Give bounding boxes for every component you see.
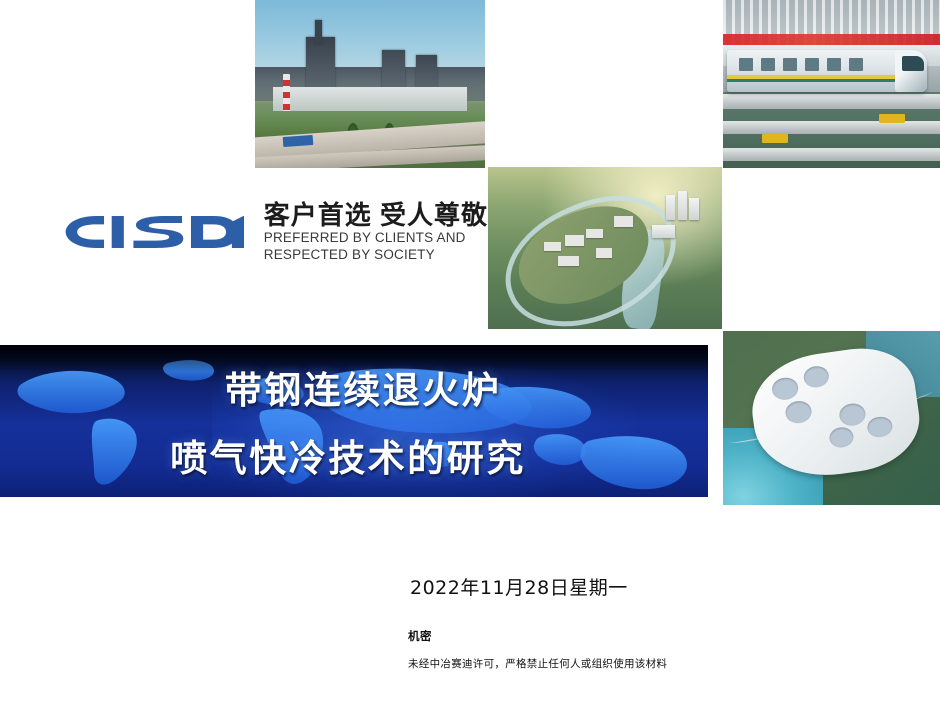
blast-furnace-1 xyxy=(306,37,336,91)
campus-building xyxy=(586,229,602,239)
guideway-beam xyxy=(723,121,940,134)
title-text-group: 带钢连续退火炉 喷气快冷技术的研究 xyxy=(0,345,708,497)
monorail-depot-photo xyxy=(723,0,940,168)
campus-building xyxy=(558,256,579,266)
confidential-note: 未经中冶赛迪许可，严格禁止任何人或组织使用该材料 xyxy=(408,656,667,671)
slogan-english-line2: RESPECTED BY SOCIETY xyxy=(264,248,488,262)
mid-rise-block xyxy=(652,225,675,238)
title-line-1: 带钢连续退火炉 xyxy=(225,360,502,414)
coastal-building-photo xyxy=(723,331,940,505)
train-window xyxy=(805,58,819,71)
train-window xyxy=(849,58,863,71)
cisdi-logo-icon xyxy=(58,201,250,263)
high-rise-tower xyxy=(678,191,687,220)
steel-plant-photo xyxy=(255,0,485,168)
high-rise-tower xyxy=(666,195,675,221)
high-rise-tower xyxy=(689,198,698,221)
date-text: 2022年11月28日星期一 xyxy=(410,573,628,600)
roof-dome xyxy=(784,399,813,424)
confidential-block: 机密 未经中冶赛迪许可，严格禁止任何人或组织使用该材料 xyxy=(408,628,667,671)
roof-dome xyxy=(803,365,830,389)
brand-slogan: 客户首选 受人尊敬 PREFERRED BY CLIENTS AND RESPE… xyxy=(264,202,488,261)
red-banner xyxy=(723,34,940,46)
campus-building xyxy=(565,235,584,246)
roof-dome xyxy=(838,401,867,426)
monorail-train xyxy=(727,50,927,92)
ring-canal xyxy=(488,173,696,329)
campus-building xyxy=(614,216,633,227)
campus-building xyxy=(544,242,560,252)
roof-dome xyxy=(771,376,800,401)
train-window xyxy=(761,58,775,71)
slogan-chinese: 客户首选 受人尊敬 xyxy=(264,202,488,229)
train-cab xyxy=(895,50,927,92)
blast-furnace-1-tower xyxy=(315,20,322,44)
cab-windshield xyxy=(902,56,924,70)
brand-logo-block: 客户首选 受人尊敬 PREFERRED BY CLIENTS AND RESPE… xyxy=(58,193,488,271)
confidential-label: 机密 xyxy=(408,628,667,644)
train-window xyxy=(783,58,797,71)
aerial-campus-photo xyxy=(488,167,722,329)
sky-area xyxy=(255,0,485,77)
guideway-beam xyxy=(723,148,940,161)
train-window xyxy=(827,58,841,71)
roof-dome xyxy=(867,415,894,439)
campus-building xyxy=(596,248,612,258)
guideway-beam xyxy=(723,94,940,109)
title-slide: 客户首选 受人尊敬 PREFERRED BY CLIENTS AND RESPE… xyxy=(0,0,940,705)
maintenance-cart xyxy=(879,114,905,122)
train-window xyxy=(739,58,753,71)
slogan-english-line1: PREFERRED BY CLIENTS AND xyxy=(264,231,488,245)
title-line-2: 喷气快冷技术的研究 xyxy=(170,428,526,482)
roof-dome xyxy=(828,425,855,449)
maintenance-cart xyxy=(762,134,788,142)
title-banner: 带钢连续退火炉 喷气快冷技术的研究 xyxy=(0,345,708,497)
